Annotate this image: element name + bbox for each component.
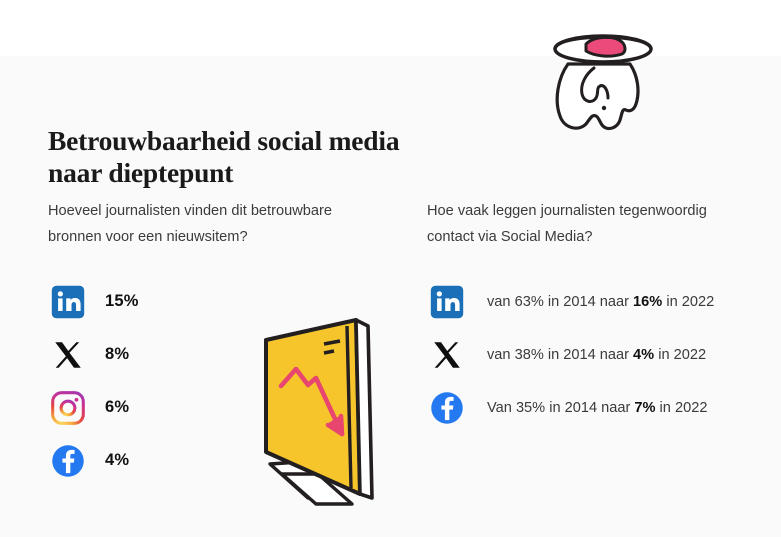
trend-suffix: in 2022 xyxy=(654,347,706,363)
list-item: 8% xyxy=(48,328,139,381)
right-stat-list: van 63% in 2014 naar 16% in 2022 van 38%… xyxy=(427,275,714,434)
trend-highlight: 7% xyxy=(634,400,655,416)
left-column-question: Hoeveel journalisten vinden dit betrouwb… xyxy=(48,198,398,250)
linkedin-icon xyxy=(427,282,467,322)
facebook-icon xyxy=(427,388,467,428)
instagram-icon xyxy=(48,388,88,428)
trend-suffix: in 2022 xyxy=(662,294,714,310)
trend-text: van 63% in 2014 naar 16% in 2022 xyxy=(487,294,714,310)
left-question-line-2: bronnen voor een nieuwsitem? xyxy=(48,224,398,250)
left-stat-list: 15% 8% xyxy=(48,275,139,487)
trend-suffix: in 2022 xyxy=(656,400,708,416)
page-title: Betrouwbaarheid social media naar diepte… xyxy=(48,125,478,189)
ghost-with-hat-logo xyxy=(538,18,668,136)
left-question-line-1: Hoeveel journalisten vinden dit betrouwb… xyxy=(48,198,398,224)
trend-text: van 38% in 2014 naar 4% in 2022 xyxy=(487,347,706,363)
list-item: van 38% in 2014 naar 4% in 2022 xyxy=(427,328,714,381)
stat-value: 6% xyxy=(105,398,129,417)
right-column-question: Hoe vaak leggen journalisten tegenwoordi… xyxy=(427,198,757,250)
list-item: van 63% in 2014 naar 16% in 2022 xyxy=(427,275,714,328)
right-question-line-1: Hoe vaak leggen journalisten tegenwoordi… xyxy=(427,198,757,224)
trend-prefix: Van 35% in 2014 naar xyxy=(487,400,634,416)
trend-text: Van 35% in 2014 naar 7% in 2022 xyxy=(487,400,707,416)
list-item: Van 35% in 2014 naar 7% in 2022 xyxy=(427,381,714,434)
right-question-line-2: contact via Social Media? xyxy=(427,224,757,250)
linkedin-icon xyxy=(48,282,88,322)
list-item: 15% xyxy=(48,275,139,328)
trend-highlight: 16% xyxy=(633,294,662,310)
trend-prefix: van 63% in 2014 naar xyxy=(487,294,633,310)
x-twitter-icon xyxy=(48,335,88,375)
page-title-line-1: Betrouwbaarheid social media xyxy=(48,125,478,157)
declining-trend-tv-illustration xyxy=(248,312,393,512)
trend-highlight: 4% xyxy=(633,347,654,363)
infographic-canvas: Betrouwbaarheid social media naar diepte… xyxy=(0,0,781,537)
stat-value: 4% xyxy=(105,451,129,470)
page-title-line-2: naar dieptepunt xyxy=(48,157,478,189)
x-twitter-icon xyxy=(427,335,467,375)
trend-prefix: van 38% in 2014 naar xyxy=(487,347,633,363)
list-item: 6% xyxy=(48,381,139,434)
stat-value: 8% xyxy=(105,345,129,364)
facebook-icon xyxy=(48,441,88,481)
stat-value: 15% xyxy=(105,292,139,311)
list-item: 4% xyxy=(48,434,139,487)
